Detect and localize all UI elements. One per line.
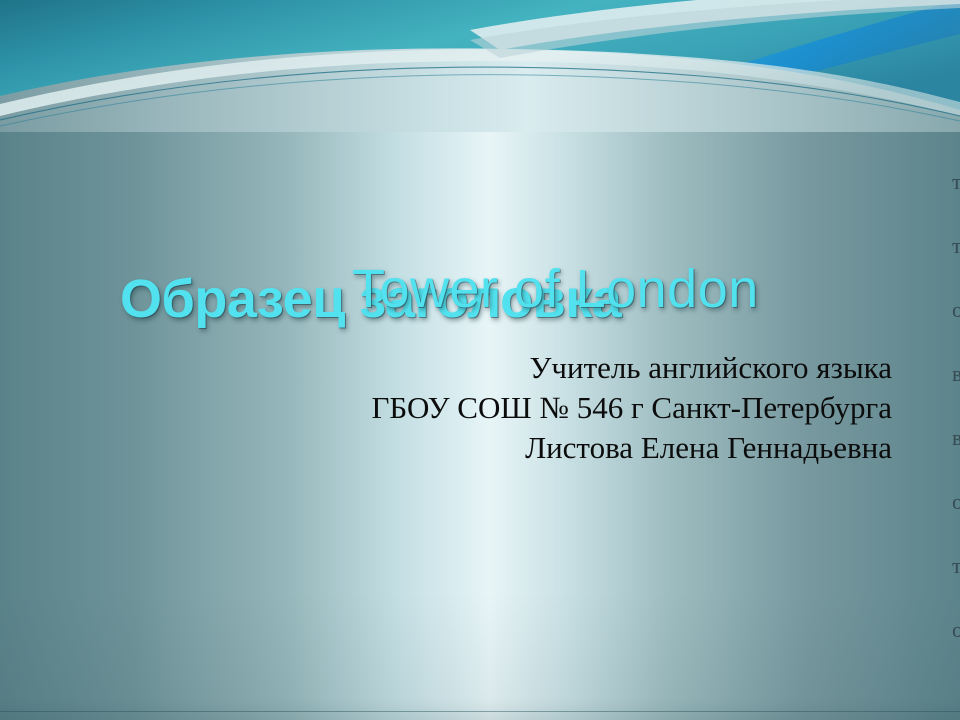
subtitle-line: Учитель английского языка xyxy=(0,348,892,388)
slide-title[interactable]: Tower of London xyxy=(352,258,759,320)
clipped-glyph: о xyxy=(952,598,960,662)
clipped-glyph: о xyxy=(952,470,960,534)
clipped-glyph: т xyxy=(952,150,960,214)
subtitle-line: ГБОУ СОШ № 546 г Санкт-Петербурга xyxy=(0,388,892,428)
clipped-glyph: т xyxy=(952,534,960,598)
slide-subtitle-block[interactable]: Учитель английского языка ГБОУ СОШ № 546… xyxy=(0,348,892,468)
presentation-slide: Образец заголовка Tower of London Учител… xyxy=(0,0,960,720)
clipped-glyph: в xyxy=(952,406,960,470)
subtitle-line: Листова Елена Геннадьевна xyxy=(0,428,892,468)
clipped-glyph: о xyxy=(952,278,960,342)
clipped-glyph: т xyxy=(952,214,960,278)
header-wave-decoration xyxy=(0,0,960,132)
bottom-divider xyxy=(0,711,960,712)
clipped-glyph: в xyxy=(952,342,960,406)
clipped-overflow-text: т т о в в о т о xyxy=(952,150,960,662)
